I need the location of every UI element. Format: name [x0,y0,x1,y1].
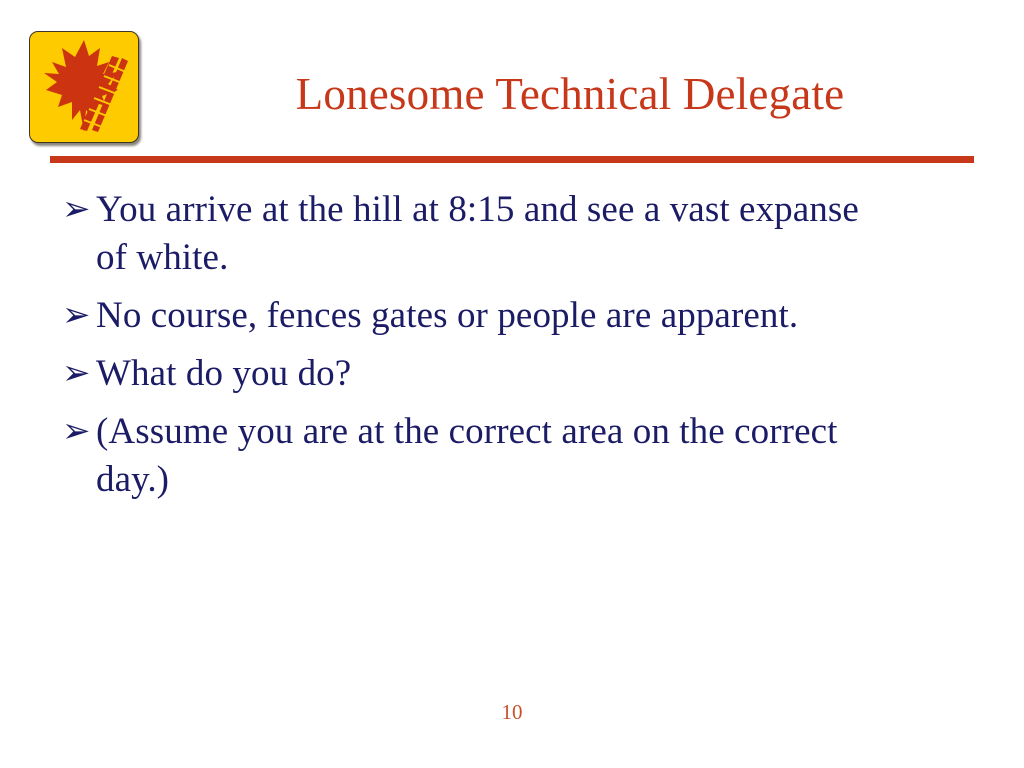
presentation-slide: Lonesome Technical Delegate ➢ You arrive… [0,0,1024,768]
maple-leaf-icon [44,40,118,132]
list-item-label: (Assume you are at the correct area on t… [96,408,896,504]
arrow-bullet-icon: ➢ [62,408,96,454]
slide-body-bullet-list: ➢ You arrive at the hill at 8:15 and see… [0,186,1024,514]
slide-header: Lonesome Technical Delegate [0,0,1024,170]
list-item: ➢ You arrive at the hill at 8:15 and see… [0,186,1024,282]
list-item-label: No course, fences gates or people are ap… [96,292,896,340]
list-item-label: You arrive at the hill at 8:15 and see a… [96,186,896,282]
list-item: ➢ What do you do? [0,350,1024,398]
arrow-bullet-icon: ➢ [62,186,96,232]
list-item: ➢ No course, fences gates or people are … [0,292,1024,340]
list-item-label: What do you do? [96,350,896,398]
canada-alpine-ski-maple-leaf-logo [29,31,139,143]
title-divider [50,156,974,163]
page-title: Lonesome Technical Delegate [150,66,990,122]
list-item: ➢ (Assume you are at the correct area on… [0,408,1024,504]
page-number: 10 [0,700,1024,724]
arrow-bullet-icon: ➢ [62,292,96,338]
arrow-bullet-icon: ➢ [62,350,96,396]
